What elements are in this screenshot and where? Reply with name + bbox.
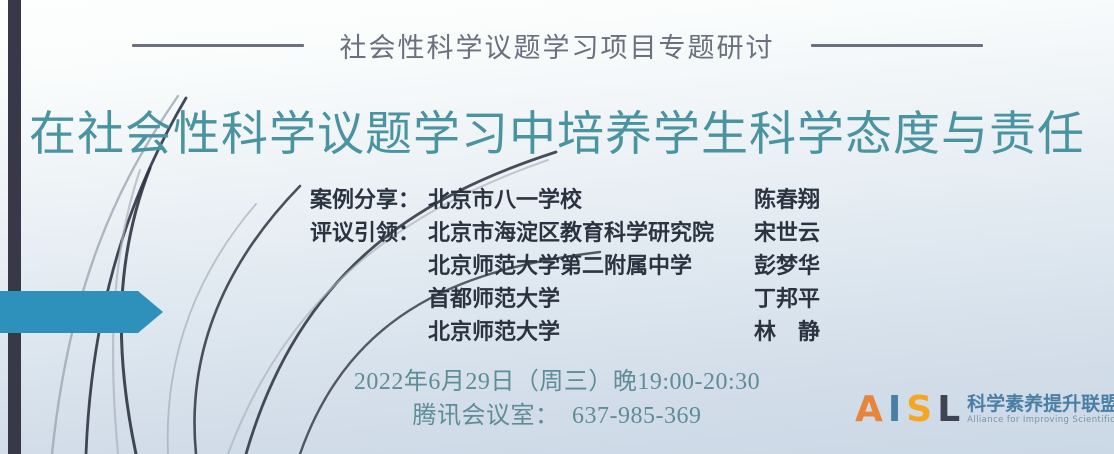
subtitle-text: 社会性科学议题学习项目专题研讨 [340,26,775,65]
logo-chinese-name: 科学素养提升联盟 [967,394,1114,415]
roster-organization: 北京市海淀区教育科学研究院 [428,215,716,247]
roster-row: 首都师范大学 丁邦平 [310,281,820,314]
logo-letter-s: S [906,392,932,428]
logo-letters: A I S L [855,392,960,428]
logo-wordmark: 科学素养提升联盟 Alliance for Improving Scientif… [967,394,1114,428]
presentation-slide: 社会性科学议题学习项目专题研讨 在社会性科学议题学习中培养学生科学态度与责任 案… [0,0,1114,454]
roster-person-name: 丁邦平 [716,281,820,313]
roster-organization: 首都师范大学 [428,281,716,313]
logo-letter-i: I [888,392,901,428]
header-rule-right [811,44,983,47]
roster-row: 案例分享： 北京市八一学校 陈春翔 [310,182,820,215]
header-rule-left [132,44,304,47]
roster-label: 案例分享： [310,182,428,214]
roster-label: 评议引领： [310,215,428,247]
roster-organization: 北京师范大学 [428,314,716,346]
roster-row: 评议引领： 北京市海淀区教育科学研究院 宋世云 [310,215,820,248]
roster-row: 北京师范大学 林 静 [310,314,820,347]
logo-letter-a: A [855,392,883,428]
roster-person-name: 宋世云 [716,215,820,247]
roster-person-name: 陈春翔 [716,182,820,214]
roster-organization: 北京市八一学校 [428,182,716,214]
roster-list: 案例分享： 北京市八一学校 陈春翔 评议引领： 北京市海淀区教育科学研究院 宋世… [310,182,820,347]
header-row: 社会性科学议题学习项目专题研讨 [0,26,1114,65]
roster-row: 北京师范大学第二附属中学 彭梦华 [310,248,820,281]
roster-person-name: 林 静 [716,314,820,346]
logo-letter-l: L [937,392,960,428]
roster-organization: 北京师范大学第二附属中学 [428,248,716,280]
logo-english-name: Alliance for Improving Scientific Litera… [967,415,1114,426]
main-title: 在社会性科学议题学习中培养学生科学态度与责任 [0,95,1114,164]
aisl-logo: A I S L 科学素养提升联盟 Alliance for Improving … [855,392,1114,428]
roster-person-name: 彭梦华 [716,248,820,280]
